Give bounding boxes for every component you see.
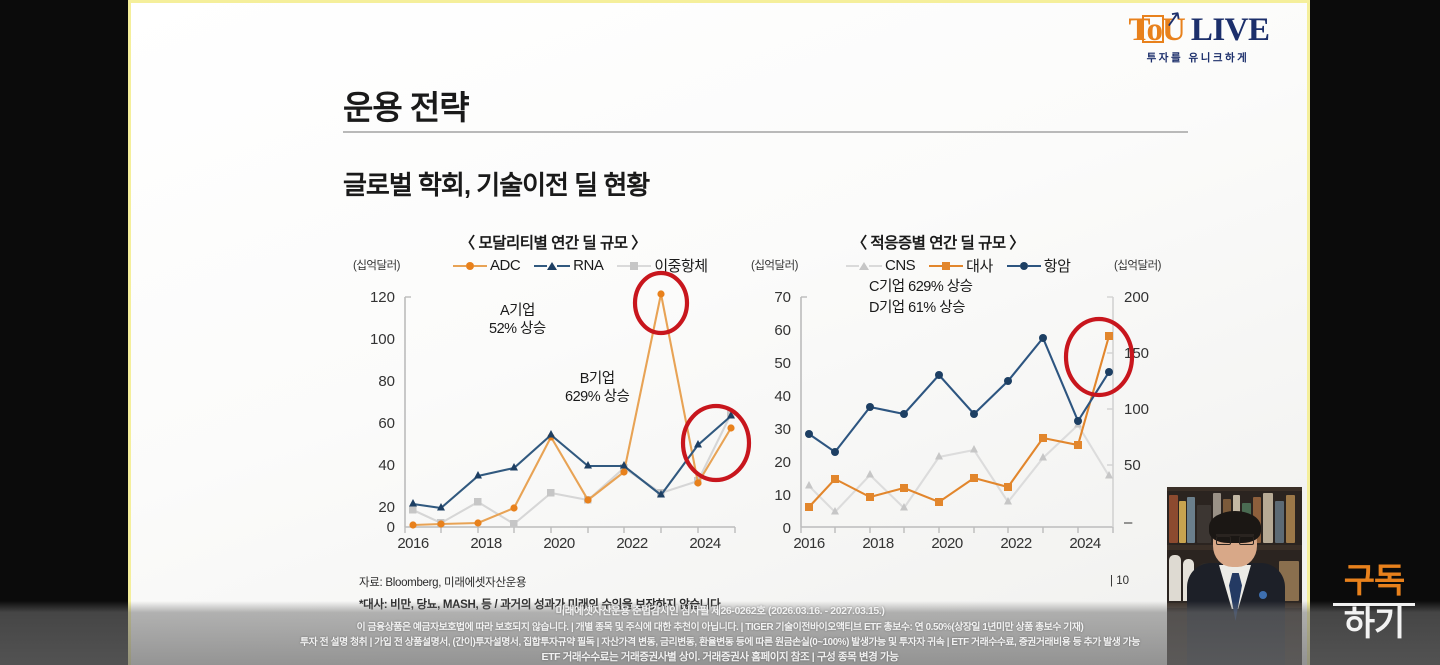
svg-text:40: 40	[378, 457, 395, 474]
slide-frame: ToU ↗ LIVE 투자를 유니크하게 운용 전략 글로벌 학회, 기술이전 …	[128, 0, 1310, 665]
subscribe-label-bottom: 하기	[1344, 607, 1405, 643]
presenter-lapel-pin	[1259, 591, 1267, 599]
source-note: 자료: Bloomberg, 미래에셋자산운용	[359, 574, 526, 590]
presenter-video-thumbnail[interactable]	[1167, 487, 1302, 665]
bookshelf-book	[1169, 495, 1178, 543]
svg-text:120: 120	[370, 289, 395, 306]
shelf-divider	[1167, 487, 1302, 491]
chart-modality-deal-size: 〈 모달리티별 연간 딜 규모 〉 (십억달러) ADC RNA	[353, 231, 753, 561]
bookshelf-book	[1263, 493, 1273, 543]
svg-text:50: 50	[774, 355, 791, 372]
svg-text:100: 100	[1124, 401, 1149, 418]
svg-text:20: 20	[774, 454, 791, 471]
glasses-left-lens	[1216, 536, 1231, 545]
svg-text:80: 80	[378, 373, 395, 390]
up-arrow-icon: ↗	[1162, 4, 1185, 33]
svg-text:40: 40	[774, 388, 791, 405]
glasses-icon	[1216, 534, 1254, 543]
chart-left-xtick-2024: 2024	[673, 535, 737, 552]
bookshelf-book	[1286, 495, 1295, 543]
svg-text:–: –	[1124, 514, 1133, 531]
chart-right-xtick-2024: 2024	[1053, 535, 1117, 552]
svg-text:70: 70	[774, 289, 791, 306]
chart-right-xtick-2018: 2018	[846, 535, 910, 552]
chart-right-xtick-2022: 2022	[984, 535, 1048, 552]
page-title: 운용 전략	[343, 81, 469, 129]
svg-text:50: 50	[1124, 457, 1141, 474]
bookshelf-book	[1187, 497, 1195, 543]
svg-text:10: 10	[774, 487, 791, 504]
svg-text:60: 60	[378, 415, 395, 432]
glasses-right-lens	[1239, 536, 1254, 545]
chart-left-xtick-2018: 2018	[454, 535, 518, 552]
bookshelf-book	[1179, 501, 1186, 543]
subscribe-label-top: 구독	[1344, 564, 1405, 600]
page-number: | 10	[1110, 575, 1129, 587]
logo-secondary-text: LIVE	[1191, 12, 1270, 49]
title-divider	[343, 131, 1188, 133]
chart-right-xtick-2016: 2016	[777, 535, 841, 552]
chart-left-xtick-2022: 2022	[600, 535, 664, 552]
tou-live-logo: ToU ↗ LIVE 투자를 유니크하게	[1105, 9, 1291, 67]
chart-indication-deal-size: 〈 적응증별 연간 딜 규모 〉 (십억달러) (십억달러) CNS 대사	[751, 231, 1161, 561]
slide-subtitle: 글로벌 학회, 기술이전 딜 현황	[343, 165, 649, 202]
svg-text:30: 30	[774, 421, 791, 438]
chart-right-plot: 70 60 50 40 30 20 10 0 200 150 100 50 –	[751, 231, 1161, 561]
svg-text:150: 150	[1124, 345, 1149, 362]
svg-text:200: 200	[1124, 289, 1149, 306]
shelf-bottle	[1169, 555, 1181, 601]
svg-text:20: 20	[378, 499, 395, 516]
svg-text:60: 60	[774, 322, 791, 339]
video-frame: ToU ↗ LIVE 투자를 유니크하게 운용 전략 글로벌 학회, 기술이전 …	[0, 0, 1440, 665]
svg-text:0: 0	[387, 519, 395, 536]
logo-wordmark: ToU ↗ LIVE	[1126, 12, 1269, 49]
subscribe-button[interactable]: 구독 하기	[1326, 555, 1422, 651]
logo-box-decoration	[1142, 15, 1164, 43]
footnote: *대사: 비만, 당뇨, MASH, 등 / 과거의 성과가 미래의 수익을 보…	[359, 596, 720, 612]
bookshelf-book	[1275, 501, 1284, 543]
chart-right-xtick-2020: 2020	[915, 535, 979, 552]
chart-left-plot: 120 100 80 60 40 20 0	[353, 231, 753, 561]
logo-tagline: 투자를 유니크하게	[1147, 50, 1250, 65]
chart-left-xtick-2020: 2020	[527, 535, 591, 552]
chart-left-xtick-2016: 2016	[381, 535, 445, 552]
slide-surface: ToU ↗ LIVE 투자를 유니크하게 운용 전략 글로벌 학회, 기술이전 …	[131, 3, 1307, 665]
svg-text:100: 100	[370, 331, 395, 348]
